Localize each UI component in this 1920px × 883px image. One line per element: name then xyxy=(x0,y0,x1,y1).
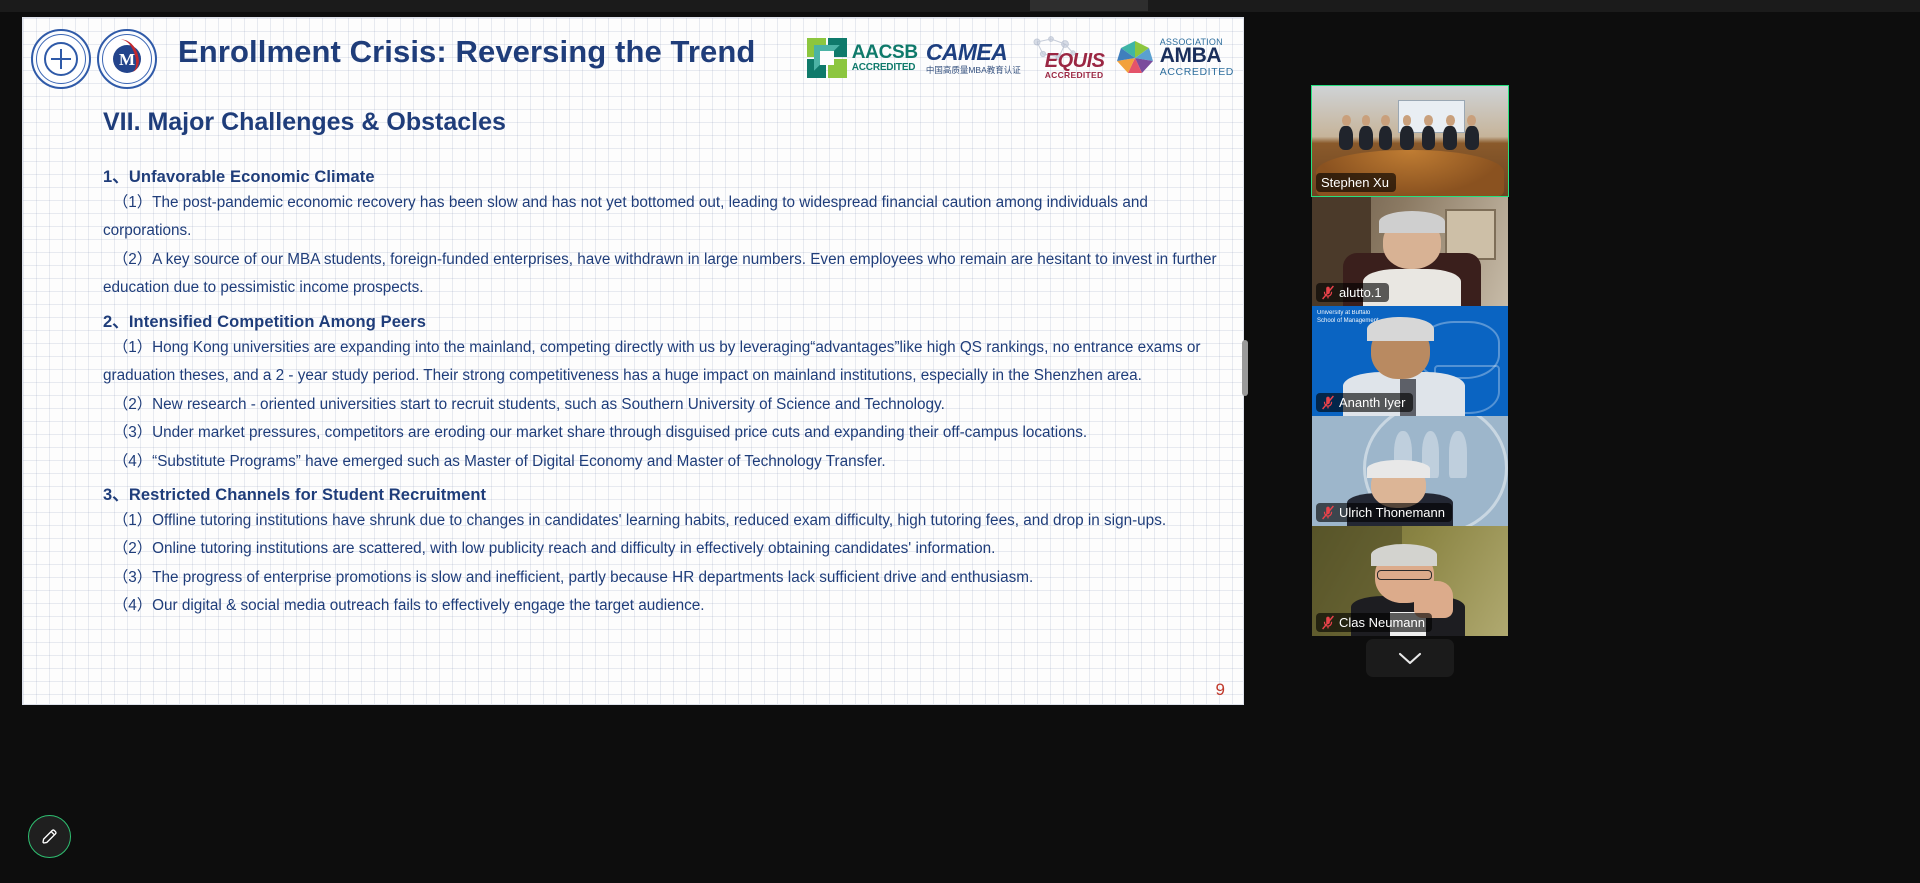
participant-label: alutto.1 xyxy=(1316,283,1389,302)
school-of-economics-and-management-seal-icon: M xyxy=(97,29,157,89)
participant-name: Clas Neumann xyxy=(1339,615,1425,630)
equis-status: ACCREDITED xyxy=(1045,71,1105,80)
dalian-university-of-technology-seal-icon xyxy=(31,29,91,89)
content-paragraph: （1）The post-pandemic economic recovery h… xyxy=(103,189,1221,246)
participant-name: Ananth Iyer xyxy=(1339,395,1406,410)
expand-participants-button[interactable] xyxy=(1366,639,1454,677)
content-heading: 1、Unfavorable Economic Climate xyxy=(103,163,1221,187)
participant-label: Ananth Iyer xyxy=(1316,393,1413,412)
microphone-muted-icon xyxy=(1321,285,1335,300)
camea-name: CAMEA xyxy=(926,39,1007,65)
participant-tile[interactable]: Stephen Xu xyxy=(1312,86,1508,196)
camea-subtitle-cn: 中国高质量MBA教育认证 xyxy=(926,66,1021,75)
content-paragraph: （4）Our digital & social media outreach f… xyxy=(103,592,1221,620)
content-paragraph: （2）Online tutoring institutions are scat… xyxy=(103,535,1221,563)
content-paragraph: （1）Offline tutoring institutions have sh… xyxy=(103,507,1221,535)
pencil-icon xyxy=(40,827,59,846)
content-heading: 2、Intensified Competition Among Peers xyxy=(103,308,1221,332)
content-paragraph: （2）New research - oriented universities … xyxy=(103,391,1221,419)
slide-title: Enrollment Crisis: Reversing the Trend xyxy=(178,34,755,70)
shared-slide-canvas[interactable]: M Enrollment Crisis: Reversing the Trend… xyxy=(22,17,1244,705)
aacsb-mark-icon xyxy=(807,38,847,78)
meeting-screen-share-window: M Enrollment Crisis: Reversing the Trend… xyxy=(0,0,1920,883)
aacsb-status: ACCREDITED xyxy=(852,63,918,73)
participant-tile[interactable]: Ulrich Thonemann xyxy=(1312,416,1508,526)
slide-body: VII. Major Challenges & Obstacles 1、Unfa… xyxy=(23,96,1243,704)
content-paragraph: （2）A key source of our MBA students, for… xyxy=(103,246,1221,303)
window-top-strip xyxy=(0,0,1920,12)
participant-label: Clas Neumann xyxy=(1316,613,1432,632)
content-paragraph: （1）Hong Kong universities are expanding … xyxy=(103,334,1221,391)
amba-status: ACCREDITED xyxy=(1160,67,1234,78)
aacsb-accredited-logo: AACSB ACCREDITED xyxy=(807,38,918,78)
content-heading: 3、Restricted Channels for Student Recrui… xyxy=(103,481,1221,505)
participant-filmstrip: Stephen Xu alutto.1 University xyxy=(1312,86,1508,636)
content-paragraph: （3）Under market pressures, competitors a… xyxy=(103,419,1221,447)
slide-section-title: VII. Major Challenges & Obstacles xyxy=(103,108,1221,137)
equis-accredited-logo: EQUIS ACCREDITED xyxy=(1029,35,1107,81)
accreditation-logos: AACSB ACCREDITED CAMEA 中国高质量MBA教育认证 xyxy=(807,31,1234,85)
microphone-muted-icon xyxy=(1321,615,1335,630)
participant-name: alutto.1 xyxy=(1339,285,1382,300)
content-paragraph: （4）“Substitute Programs” have emerged su… xyxy=(103,448,1221,476)
amba-accredited-logo: ASSOCIATION AMBA ACCREDITED xyxy=(1115,38,1234,79)
participant-tile[interactable]: alutto.1 xyxy=(1312,196,1508,306)
slide-scrollbar-thumb[interactable] xyxy=(1242,340,1248,396)
top-strip-highlight xyxy=(1030,0,1148,11)
microphone-muted-icon xyxy=(1321,395,1335,410)
participant-label: Stephen Xu xyxy=(1316,173,1396,192)
annotate-button[interactable] xyxy=(28,815,71,858)
microphone-muted-icon xyxy=(1321,505,1335,520)
slide-page-number: 9 xyxy=(1216,680,1225,700)
participant-label: Ulrich Thonemann xyxy=(1316,503,1452,522)
participant-tile[interactable]: Clas Neumann xyxy=(1312,526,1508,636)
amba-pinwheel-icon xyxy=(1115,39,1155,77)
participant-name: Stephen Xu xyxy=(1321,175,1389,190)
amba-name: AMBA xyxy=(1160,45,1234,67)
participant-name: Ulrich Thonemann xyxy=(1339,505,1445,520)
chevron-down-icon xyxy=(1397,651,1423,666)
participant-tile[interactable]: University at BuffaloSchool of Managemen… xyxy=(1312,306,1508,416)
camea-accredited-logo: CAMEA 中国高质量MBA教育认证 xyxy=(926,41,1021,75)
equis-name: EQUIS xyxy=(1045,50,1105,72)
slide-header: M Enrollment Crisis: Reversing the Trend… xyxy=(23,18,1243,96)
content-paragraph: （3）The progress of enterprise promotions… xyxy=(103,564,1221,592)
aacsb-name: AACSB xyxy=(852,42,918,63)
